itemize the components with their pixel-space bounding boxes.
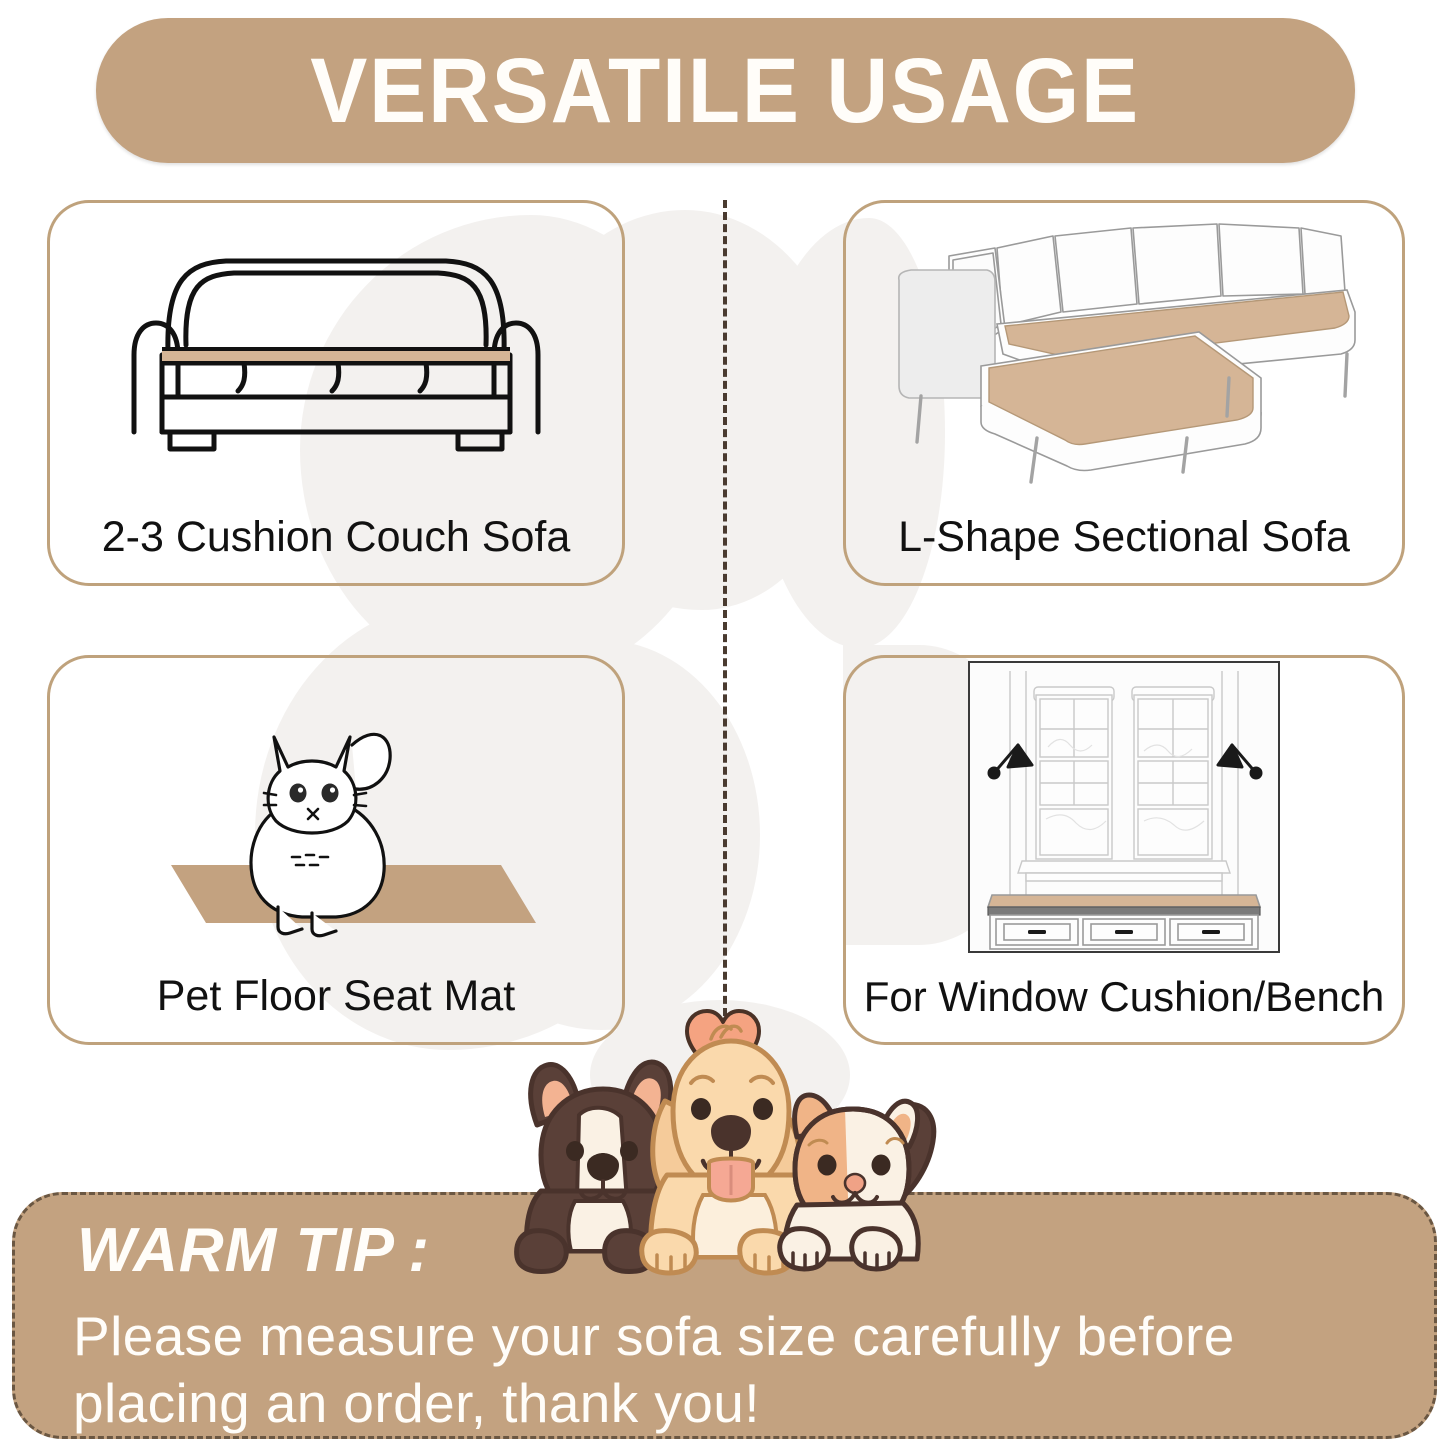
usage-card-pet-floor-seat-mat[interactable]: Pet Floor Seat Mat	[47, 655, 625, 1045]
window-bench-sketch-icon	[968, 661, 1280, 953]
vertical-dashed-divider	[723, 200, 727, 1028]
sectional-sofa-illustration	[846, 217, 1402, 487]
warm-tip-body: Please measure your sofa size carefully …	[73, 1303, 1394, 1437]
couch-sofa-illustration	[50, 217, 622, 487]
infographic-page: VERSATILE USAGE	[0, 0, 1449, 1451]
page-title: VERSATILE USAGE	[311, 45, 1141, 137]
warm-tip-heading: WARM TIP :	[77, 1217, 430, 1285]
cat-icon	[780, 1095, 934, 1269]
pets-illustration	[497, 1005, 957, 1295]
usage-card-cushion-couch-sofa[interactable]: 2-3 Cushion Couch Sofa	[47, 200, 625, 586]
sectional-sofa-line-art-icon	[869, 220, 1379, 485]
usage-card-window-cushion-bench[interactable]: For Window Cushion/Bench	[843, 655, 1405, 1045]
cat-on-mat-icon	[106, 675, 566, 940]
card-label: 2-3 Cushion Couch Sofa	[50, 516, 622, 559]
card-label: L-Shape Sectional Sofa	[846, 516, 1402, 559]
sofa-line-art-icon	[126, 237, 546, 467]
window-bench-illustration	[846, 672, 1402, 942]
pet-mat-illustration	[50, 672, 622, 942]
header-banner: VERSATILE USAGE	[96, 18, 1355, 163]
usage-card-l-shape-sectional-sofa[interactable]: L-Shape Sectional Sofa	[843, 200, 1405, 586]
